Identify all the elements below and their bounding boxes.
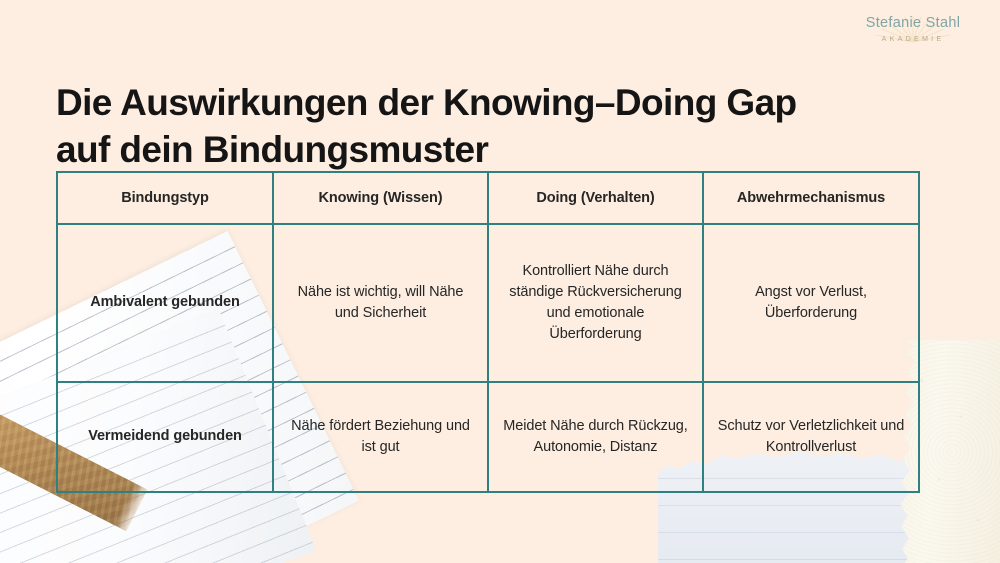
table-row: Ambivalent gebunden Nähe ist wichtig, wi… <box>57 224 919 382</box>
page-title-line-1: Die Auswirkungen der Knowing–Doing Gap <box>56 79 916 126</box>
cell-doing-vermeidend: Meidet Nähe durch Rückzug, Autonomie, Di… <box>488 382 703 492</box>
column-header-bindungstyp: Bindungstyp <box>57 172 273 224</box>
page-title-line-2: auf dein Bindungsmuster <box>56 126 916 173</box>
column-header-doing: Doing (Verhalten) <box>488 172 703 224</box>
logo-name: Stefanie Stahl <box>848 16 978 32</box>
slide-canvas: Stefanie Stahl AKADEMIE Die Auswirkungen… <box>0 0 1000 563</box>
table-row: Vermeidend gebunden Nähe fördert Beziehu… <box>57 382 919 492</box>
cell-bindungstyp-vermeidend: Vermeidend gebunden <box>57 382 273 492</box>
cell-doing-ambivalent: Kontrolliert Nähe durch ständige Rückver… <box>488 224 703 382</box>
cell-bindungstyp-ambivalent: Ambivalent gebunden <box>57 224 273 382</box>
page-title: Die Auswirkungen der Knowing–Doing Gap a… <box>56 79 916 174</box>
cell-knowing-vermeidend: Nähe fördert Beziehung und ist gut <box>273 382 488 492</box>
attachment-pattern-table: Bindungstyp Knowing (Wissen) Doing (Verh… <box>56 171 920 493</box>
comparison-table-container: Bindungstyp Knowing (Wissen) Doing (Verh… <box>56 171 918 493</box>
tape-torn-end-icon <box>121 487 152 534</box>
logo-subtitle: AKADEMIE <box>848 34 978 43</box>
column-header-knowing: Knowing (Wissen) <box>273 172 488 224</box>
column-header-abwehrmechanismus: Abwehrmechanismus <box>703 172 919 224</box>
cell-knowing-ambivalent: Nähe ist wichtig, will Nähe und Sicherhe… <box>273 224 488 382</box>
table-header-row: Bindungstyp Knowing (Wissen) Doing (Verh… <box>57 172 919 224</box>
brand-logo: Stefanie Stahl AKADEMIE <box>848 16 978 52</box>
cell-abwehr-ambivalent: Angst vor Verlust, Überforderung <box>703 224 919 382</box>
cell-abwehr-vermeidend: Schutz vor Verletzlichkeit und Kontrollv… <box>703 382 919 492</box>
